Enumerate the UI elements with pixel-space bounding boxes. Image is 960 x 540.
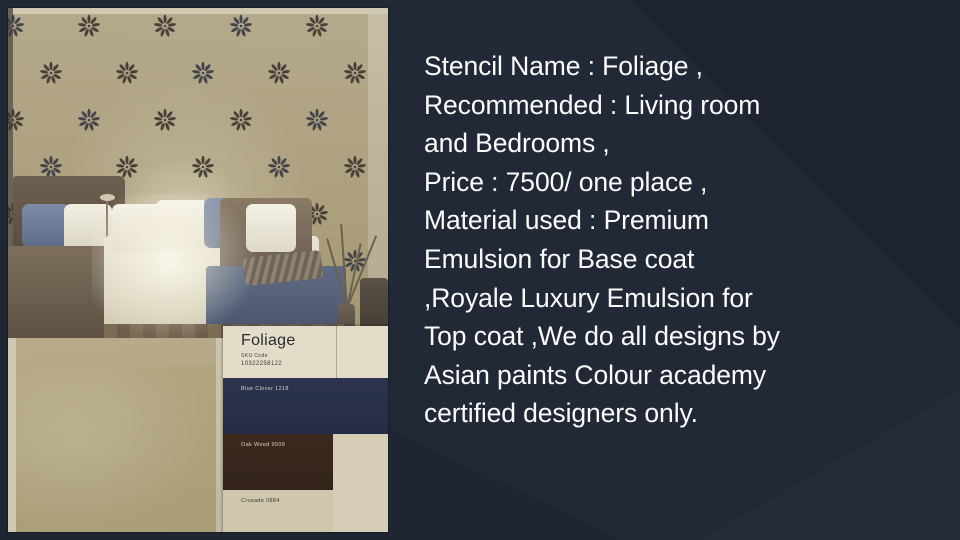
stencil-photo[interactable]: Foliage SKU Code 10322258122 Blue Clover… xyxy=(8,8,388,532)
wall-stencil-motif xyxy=(342,155,368,179)
card-header: Foliage SKU Code 10322258122 xyxy=(223,326,388,378)
wall-stencil-motif xyxy=(190,61,216,85)
description-line: Price : 7500/ one place , xyxy=(424,163,854,202)
wall-stencil-motif xyxy=(266,155,292,179)
wall-stencil-motif xyxy=(304,14,330,38)
lamp-shade xyxy=(100,194,115,201)
wall-stencil-motif xyxy=(76,14,102,38)
description-text-block: Stencil Name : Foliage , Recommended : L… xyxy=(424,47,854,433)
side-stool xyxy=(360,278,388,330)
card-header-divider xyxy=(336,326,337,378)
card-sku-label: SKU Code xyxy=(241,353,268,359)
wall-stencil-motif xyxy=(76,108,102,132)
swatch-crusade[interactable]: Crusade 0884 xyxy=(223,490,333,532)
description-line: Recommended : Living room xyxy=(424,86,854,125)
description-line: ,Royale Luxury Emulsion for xyxy=(424,279,854,318)
description-line: Emulsion for Base coat xyxy=(424,240,854,279)
card-sku-value: 10322258122 xyxy=(241,361,282,367)
wall-stencil-motif xyxy=(8,108,26,132)
pillow-blue-left xyxy=(22,204,70,248)
wall-stencil-motif xyxy=(342,61,368,85)
swatch-label: Crusade 0884 xyxy=(241,498,280,504)
pillow-white-center-b xyxy=(156,200,208,250)
swatch-label: Oak Wood 9509 xyxy=(241,442,285,448)
wall-stencil-motif xyxy=(114,61,140,85)
swatch-label: Blue Clover 1218 xyxy=(241,386,289,392)
wall-stencil-motif xyxy=(190,155,216,179)
wall-stencil-motif xyxy=(228,108,254,132)
paint-swatch-card[interactable]: Foliage SKU Code 10322258122 Blue Clover… xyxy=(223,326,388,532)
sample-left-strip xyxy=(8,338,16,532)
wall-stencil-motif xyxy=(152,108,178,132)
description-line: and Bedrooms , xyxy=(424,124,854,163)
room-scene xyxy=(8,8,388,338)
swatch-oak-wood[interactable]: Oak Wood 9509 xyxy=(223,434,333,490)
wall-stencil-motif xyxy=(304,108,330,132)
wall-stencil-motif xyxy=(38,61,64,85)
slide: Foliage SKU Code 10322258122 Blue Clover… xyxy=(0,0,960,540)
description-line: Stencil Name : Foliage , xyxy=(424,47,854,86)
wall-stencil-motif xyxy=(8,14,26,38)
card-title: Foliage xyxy=(241,332,296,350)
description-line: Material used : Premium xyxy=(424,201,854,240)
wall-stencil-motif xyxy=(228,14,254,38)
wall-stencil-motif xyxy=(266,61,292,85)
card-right-fill xyxy=(333,434,388,532)
ceiling-trim xyxy=(8,8,388,14)
sample-panel xyxy=(16,366,216,532)
description-line: Top coat ,We do all designs by xyxy=(424,317,854,356)
wall-stencil-motif xyxy=(152,14,178,38)
description-line: certified designers only. xyxy=(424,394,854,433)
pillow-white-right xyxy=(246,204,296,252)
description-line: Asian paints Colour academy xyxy=(424,356,854,395)
swatch-blue-clover[interactable]: Blue Clover 1218 xyxy=(223,378,388,434)
